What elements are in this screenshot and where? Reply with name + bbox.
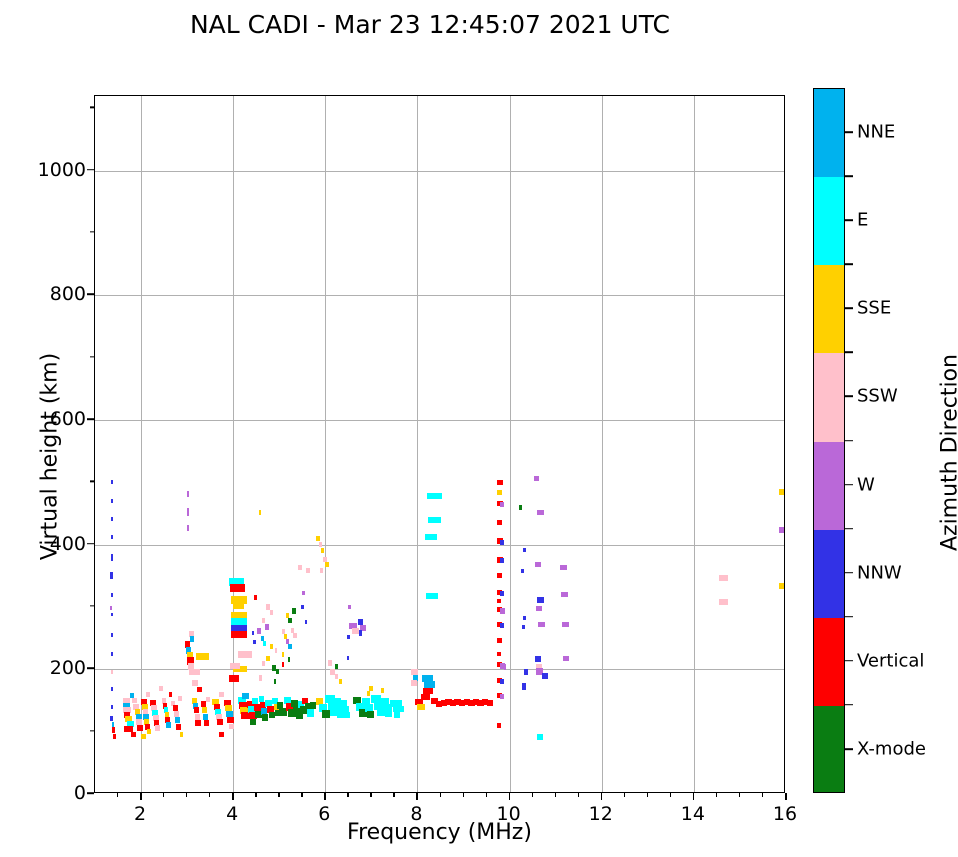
data-point [263,641,266,646]
data-point [111,633,113,637]
data-point [779,527,785,533]
data-point [367,691,371,696]
colorbar-tick [845,660,853,662]
data-point [252,631,254,635]
y-tick-mark [87,792,94,794]
data-point [497,490,503,495]
y-axis-ticks [87,95,95,793]
data-point [779,583,785,589]
data-point [136,719,142,725]
colorbar-segment-nnw [814,530,844,619]
data-point [276,669,279,674]
data-point [497,480,503,485]
data-point [178,696,182,701]
data-point [563,656,569,661]
y-tick-minor [90,231,94,232]
data-point [534,476,540,481]
data-point [537,597,543,603]
y-tick-minor [90,730,94,731]
data-point [180,732,184,737]
data-point [187,525,189,531]
data-point [348,605,350,609]
y-tick-minor [90,605,94,606]
data-point [521,569,524,573]
data-point [111,517,113,521]
data-point [536,606,542,611]
data-point [428,517,442,523]
data-point [173,705,178,711]
data-point [500,608,505,614]
colorbar-label-w: W [857,474,875,495]
data-point [293,633,297,638]
data-point [358,619,364,625]
data-point [292,608,296,614]
data-point [113,734,116,739]
data-point [112,727,115,733]
data-point [500,694,504,699]
data-point [195,720,201,726]
data-point [500,591,504,596]
data-point [497,652,502,656]
data-point [259,510,262,515]
data-point [227,717,234,723]
data-point [250,719,256,725]
colorbar-boundary-tick [845,704,853,706]
data-point [203,714,209,720]
data-point [719,575,728,581]
data-point [335,664,338,669]
data-point [254,595,257,600]
data-point [306,568,310,573]
data-point [141,734,146,739]
colorbar-boundary-tick [845,175,853,177]
data-point [111,535,113,539]
data-point [719,599,728,605]
data-point [500,540,504,545]
data-point [195,714,201,720]
data-point [519,505,523,510]
data-point [262,661,265,666]
data-point [217,719,223,725]
data-point [282,662,285,667]
data-point [174,711,179,717]
colorbar-title: Azimuth Direction [938,288,958,618]
data-point [111,554,114,561]
data-point [259,675,263,681]
data-point [252,698,258,704]
colorbar-segment-nne [814,89,844,178]
data-point [111,613,113,616]
data-point [226,711,233,717]
data-point [542,673,548,679]
data-point [425,534,437,540]
data-point [219,732,224,737]
y-tick-mark [87,543,94,545]
data-point [166,722,171,728]
data-point [233,602,244,609]
data-point [266,656,269,661]
data-point [111,687,113,691]
data-point [524,669,527,675]
y-tick-mark [87,418,94,420]
plot-area [94,95,785,793]
data-point [137,725,143,731]
data-point [344,712,350,718]
data-point [427,493,443,499]
data-point [497,723,502,728]
data-point [561,592,567,597]
data-point [230,584,246,592]
colorbar-segment-x-mode [814,706,844,793]
data-point [229,724,235,729]
colorbar-segment-ssw [814,353,844,442]
data-point [242,693,248,699]
colorbar-labels: NNEESSESSWWNNWVerticalX-mode [857,88,947,793]
data-point [500,623,504,628]
y-tick-mark [87,668,94,670]
data-point [497,573,503,578]
data-point [204,720,210,726]
colorbar-label-ssw: SSW [857,386,898,407]
data-point [535,562,541,567]
data-point [202,707,208,713]
data-point [381,688,385,693]
colorbar-tick [845,131,853,133]
data-point [131,732,137,737]
data-point [497,638,503,643]
data-point [779,489,785,495]
data-point [147,729,152,734]
data-point [298,565,303,570]
x-tick-mark [785,793,787,800]
data-point [322,710,330,718]
data-point [522,625,525,629]
colorbar-label-x-mode: X-mode [857,738,926,759]
y-tick-minor [90,107,94,108]
data-point [288,657,291,662]
data-point [262,714,268,721]
data-point [347,635,349,639]
colorbar-boundary-tick [845,616,853,618]
data-point [537,510,543,515]
y-axis-title: Virtual height (km) [38,287,63,627]
data-point [146,692,151,697]
data-point [189,669,200,675]
data-point [487,700,493,706]
colorbar-label-nne: NNE [857,122,895,143]
colorbar-segment-sse [814,265,844,354]
data-point [262,618,265,623]
data-point [229,675,239,682]
colorbar-tick [845,308,853,310]
colorbar-boundary-tick [845,352,853,354]
data-point [562,622,568,627]
colorbar-label-nnw: NNW [857,562,902,583]
data-point [111,593,113,597]
data-point [274,679,277,684]
data-point [231,631,247,638]
data-point [500,502,504,507]
data-point [397,700,403,706]
colorbar-label-e: E [857,210,868,231]
data-point [282,652,285,657]
data-point [169,692,173,697]
data-point [359,630,363,636]
data-point [320,568,323,573]
data-point [328,660,333,666]
data-point [155,725,161,731]
data-point [110,572,113,579]
data-point [230,663,240,669]
data-point [411,669,418,675]
data-point [500,558,504,563]
data-point [504,664,506,670]
data-point [190,636,195,642]
data-point [219,692,224,697]
data-point [253,640,255,644]
data-point [339,679,342,684]
data-point [265,624,269,630]
data-point [394,712,400,718]
data-point [270,644,273,649]
data-point [305,620,307,624]
data-point [111,499,113,503]
data-point [175,717,180,723]
data-point [560,565,566,570]
colorbar-tick [845,748,853,750]
y-tick-mark [87,169,94,171]
data-point [500,679,504,684]
colorbar-tick [845,219,853,221]
data-point [110,716,113,721]
data-point [176,724,181,730]
data-point [225,705,232,711]
data-point [538,622,544,627]
y-tick-minor [90,356,94,357]
data-point [301,605,303,609]
data-point [111,652,113,656]
colorbar-tick [845,572,853,574]
data-point [197,687,202,692]
data-point [497,520,503,525]
data-point [535,656,541,662]
data-point [111,670,113,674]
data-point [159,686,163,691]
data-point [537,734,543,740]
x-axis-title: Frequency (MHz) [94,820,785,845]
y-tick-label: 200 [30,657,86,679]
data-point [307,709,314,717]
page-title: NAL CADI - Mar 23 12:45:07 2021 UTC [0,10,860,39]
y-tick-label: 1000 [30,159,86,181]
data-point [367,711,374,718]
data-point [192,680,198,686]
colorbar-boundary-tick [845,528,853,530]
data-point [111,705,113,709]
data-point [241,712,249,719]
data-point [399,706,404,712]
data-points-layer [95,96,784,792]
y-tick-minor [90,481,94,482]
data-point [110,606,112,610]
data-point [196,653,209,660]
data-point [270,610,273,615]
data-point [194,707,200,713]
ionogram-figure: NAL CADI - Mar 23 12:45:07 2021 UTC 0200… [0,0,958,857]
colorbar-tick [845,484,853,486]
colorbar-tick [845,396,853,398]
colorbar-segment-vertical [814,618,844,707]
colorbar-segment-w [814,442,844,531]
data-point [132,698,138,703]
data-point [288,644,291,649]
data-point [497,599,502,603]
data-point [423,688,433,694]
colorbar-ticks [845,88,857,793]
data-point [385,711,391,717]
data-point [187,508,189,516]
colorbar [813,88,845,793]
data-point [523,616,526,620]
data-point [335,674,339,679]
data-point [316,536,320,541]
data-point [275,648,278,653]
colorbar-label-vertical: Vertical [857,650,924,671]
data-point [187,491,189,497]
data-point [288,618,291,623]
y-tick-mark [87,294,94,296]
data-point [347,656,349,660]
data-point [325,562,329,567]
data-point [238,651,252,658]
colorbar-label-sse: SSE [857,298,891,319]
data-point [411,680,417,686]
colorbar-boundary-tick [845,440,853,442]
data-point [302,591,304,595]
data-point [426,593,438,599]
data-point [417,704,424,710]
data-point [319,542,322,547]
data-point [111,480,113,484]
data-point [523,548,526,552]
data-point [206,697,211,702]
data-point [321,548,324,553]
data-point [257,628,261,634]
data-point [522,683,525,690]
colorbar-boundary-tick [845,263,853,265]
data-point [201,701,207,707]
y-tick-label: 0 [30,782,86,804]
colorbar-segment-e [814,177,844,266]
